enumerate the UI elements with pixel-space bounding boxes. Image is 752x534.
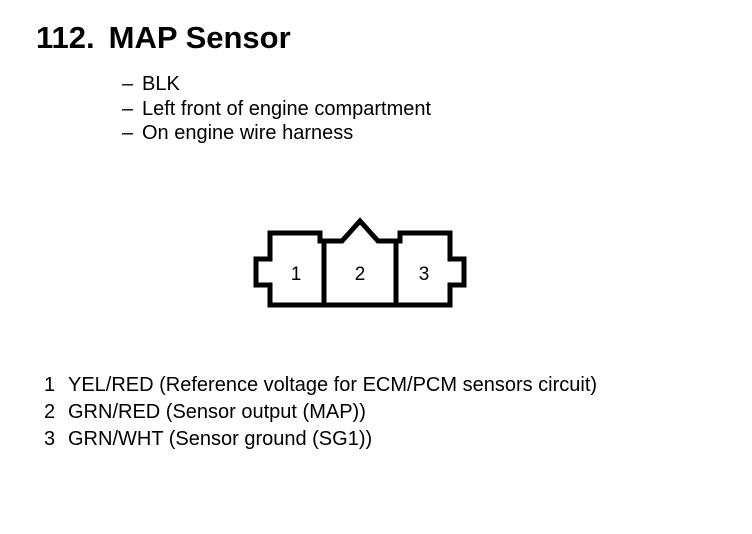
- legend-row: 2 GRN/RED (Sensor output (MAP)): [44, 399, 597, 426]
- list-item: – On engine wire harness: [122, 121, 431, 146]
- legend-pin-description: GRN/WHT (Sensor ground (SG1)): [68, 426, 372, 453]
- list-item: – Left front of engine compartment: [122, 97, 431, 122]
- legend-pin-number: 2: [44, 399, 68, 426]
- list-item-label: BLK: [142, 72, 180, 97]
- legend-pin-description: GRN/RED (Sensor output (MAP)): [68, 399, 366, 426]
- page-title: 112. MAP Sensor: [36, 20, 291, 56]
- page-title-number: 112.: [36, 20, 95, 56]
- page-title-text: MAP Sensor: [109, 20, 291, 56]
- pin-number-1: 1: [291, 264, 302, 285]
- list-item-label: On engine wire harness: [142, 121, 353, 146]
- dash-icon: –: [122, 72, 142, 97]
- legend-pin-number: 1: [44, 372, 68, 399]
- description-list: – BLK – Left front of engine compartment…: [122, 72, 431, 146]
- connector-body-outline: [256, 221, 464, 305]
- connector-diagram: 1 2 3: [250, 215, 490, 325]
- connector-outline-group: [256, 221, 464, 305]
- pin-number-3: 3: [419, 264, 430, 285]
- list-item-label: Left front of engine compartment: [142, 97, 431, 122]
- legend-pin-description: YEL/RED (Reference voltage for ECM/PCM s…: [68, 372, 597, 399]
- pin-number-2: 2: [355, 264, 366, 285]
- legend-row: 3 GRN/WHT (Sensor ground (SG1)): [44, 426, 597, 453]
- dash-icon: –: [122, 121, 142, 146]
- pin-legend: 1 YEL/RED (Reference voltage for ECM/PCM…: [44, 372, 597, 453]
- dash-icon: –: [122, 97, 142, 122]
- legend-pin-number: 3: [44, 426, 68, 453]
- legend-row: 1 YEL/RED (Reference voltage for ECM/PCM…: [44, 372, 597, 399]
- list-item: – BLK: [122, 72, 431, 97]
